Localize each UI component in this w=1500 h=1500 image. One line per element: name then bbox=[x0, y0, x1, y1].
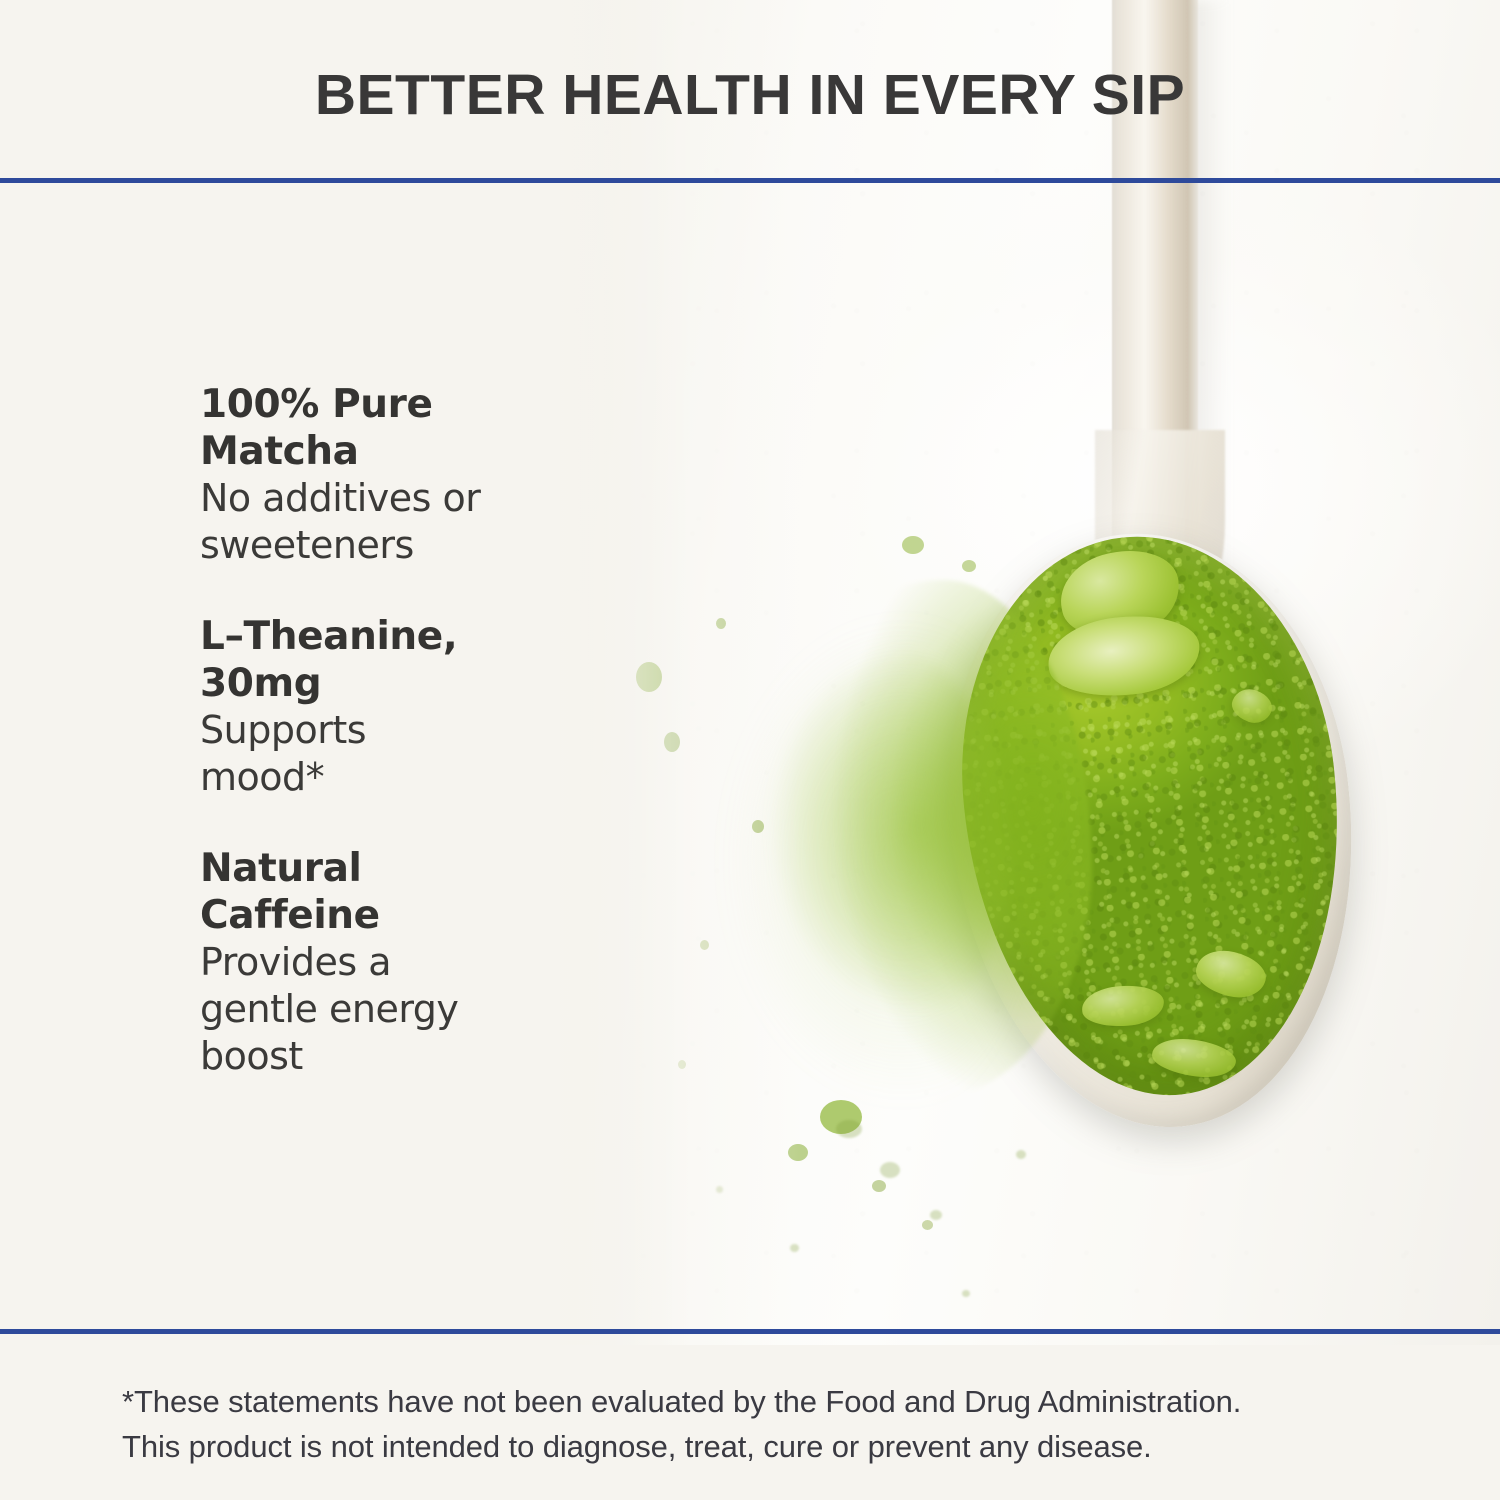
powder-dust bbox=[836, 1120, 862, 1138]
powder-speck bbox=[872, 1180, 886, 1192]
powder-dust bbox=[962, 1290, 970, 1297]
powder-speck bbox=[902, 536, 924, 554]
benefit-item-l-theanine: L–Theanine, 30mg Supports mood* bbox=[200, 613, 550, 801]
disclaimer-line-2: This product is not intended to diagnose… bbox=[122, 1424, 1382, 1469]
benefit-title: 100% Pure Matcha bbox=[200, 381, 550, 475]
powder-dust bbox=[880, 1162, 900, 1178]
product-infographic: BETTER HEALTH IN EVERY SIP 100% Pure Mat… bbox=[0, 0, 1500, 1500]
powder-speck bbox=[922, 1220, 933, 1230]
benefits-list: 100% Pure Matcha No additives or sweeten… bbox=[200, 381, 550, 1080]
benefit-description: Supports mood* bbox=[200, 707, 550, 801]
page-title: BETTER HEALTH IN EVERY SIP bbox=[0, 62, 1500, 128]
benefit-item-natural-caffeine: Natural Caffeine Provides a gentle energ… bbox=[200, 845, 550, 1080]
benefit-description: No additives or sweeteners bbox=[200, 475, 550, 569]
fda-disclaimer: *These statements have not been evaluate… bbox=[122, 1379, 1382, 1469]
benefit-item-pure-matcha: 100% Pure Matcha No additives or sweeten… bbox=[200, 381, 550, 569]
powder-speck bbox=[962, 560, 976, 572]
benefit-title: L–Theanine, 30mg bbox=[200, 613, 550, 707]
powder-dust bbox=[930, 1210, 942, 1220]
disclaimer-line-1: *These statements have not been evaluate… bbox=[122, 1379, 1382, 1424]
top-divider-rule bbox=[0, 178, 1500, 183]
powder-dust bbox=[1016, 1150, 1026, 1159]
benefit-description: Provides a gentle energy boost bbox=[200, 939, 550, 1080]
bottom-divider-rule bbox=[0, 1329, 1500, 1334]
benefit-title: Natural Caffeine bbox=[200, 845, 550, 939]
